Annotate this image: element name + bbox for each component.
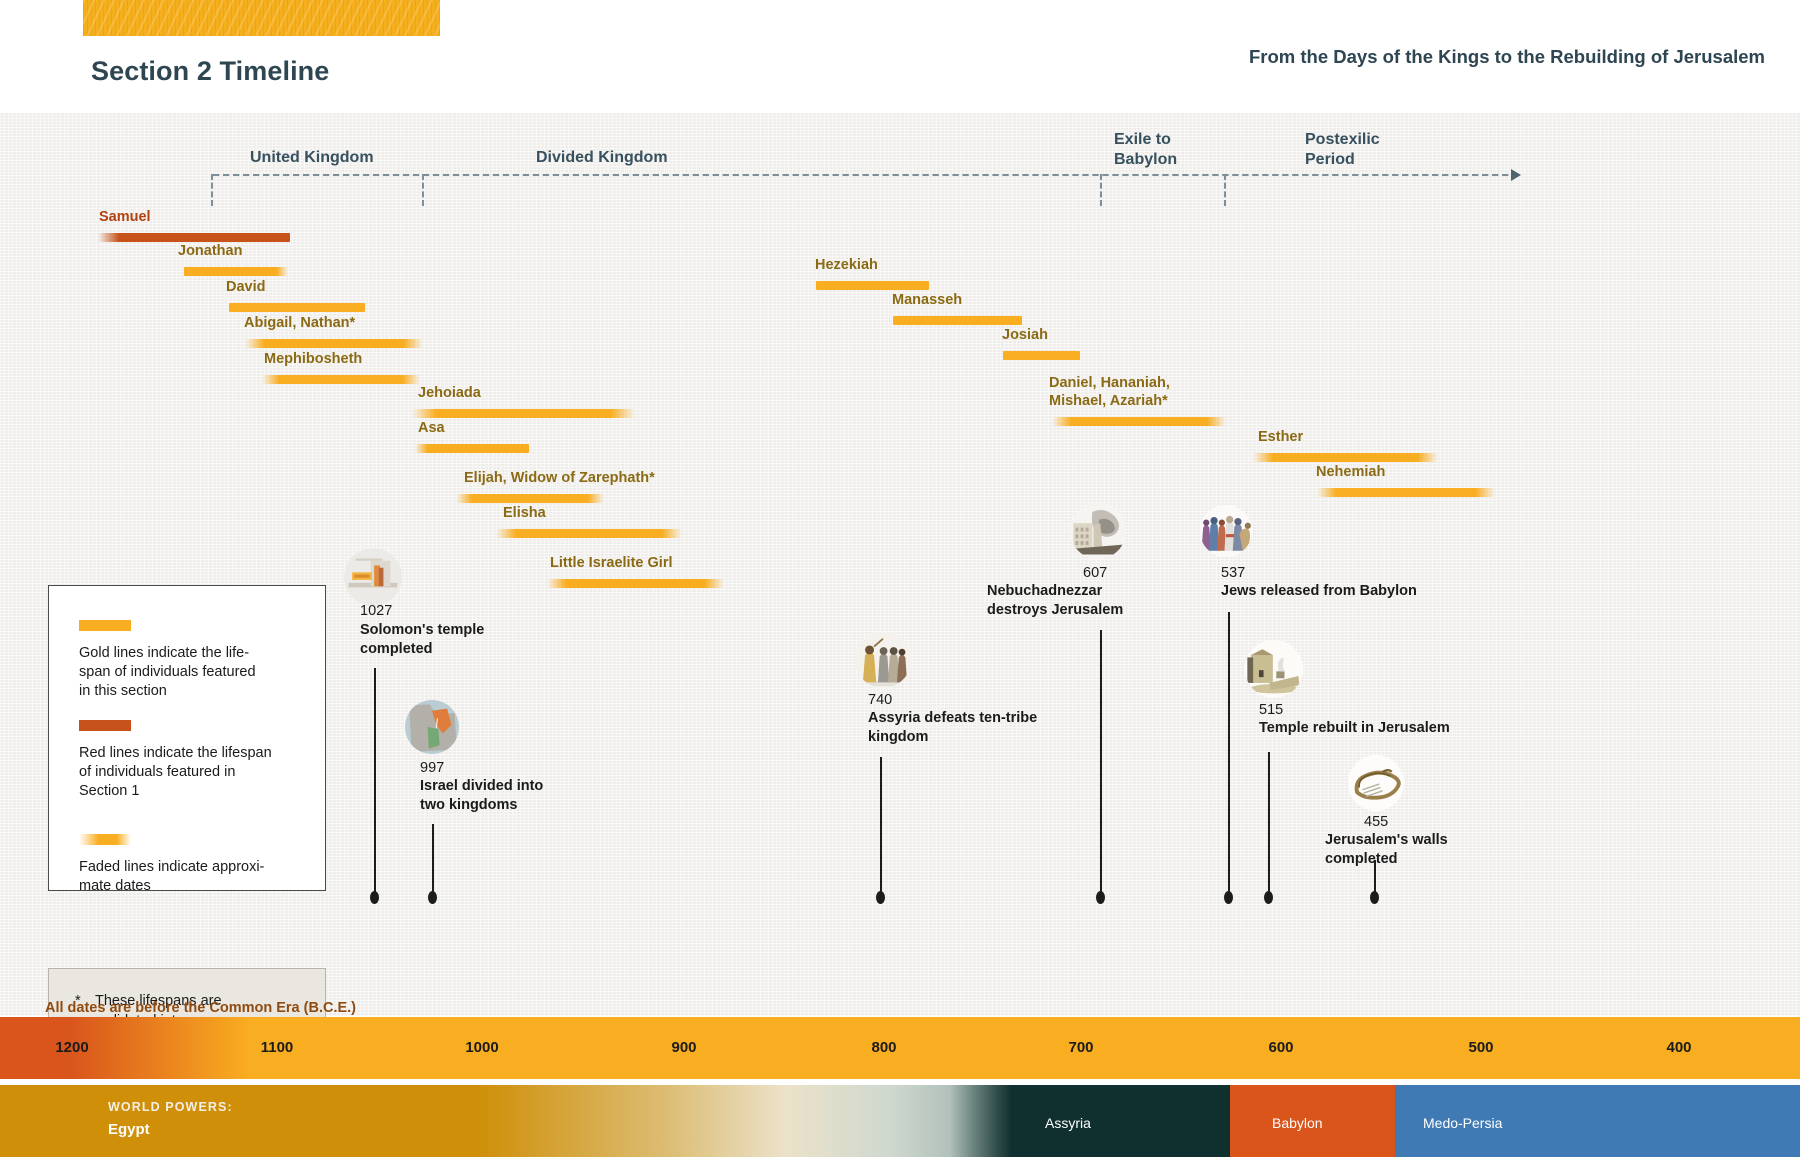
axis-tick-600: 600 <box>1268 1039 1293 1056</box>
gold-banner-swatch <box>83 0 440 36</box>
axis-tick-1200: 1200 <box>55 1039 88 1056</box>
world-power-label-egypt: Egypt <box>108 1121 150 1138</box>
world-powers-bar: AssyriaBabylonMedo-PersiaWORLD POWERS:Eg… <box>0 1085 1800 1157</box>
page-title: Section 2 Timeline <box>91 56 329 87</box>
timeline-canvas: United KingdomDivided KingdomExile to Ba… <box>0 113 1800 1016</box>
axis-tick-1000: 1000 <box>465 1039 498 1056</box>
world-powers-heading: WORLD POWERS: <box>108 1100 233 1114</box>
header-subtitle: From the Days of the Kings to the Rebuil… <box>1165 45 1765 70</box>
world-power-segment-egypt <box>0 1085 1060 1157</box>
city-walls-icon <box>1348 755 1404 811</box>
world-power-label-assyria: Assyria <box>1045 1115 1091 1131</box>
event-marker-455: 455Jerusalem's walls completed <box>0 113 1800 1016</box>
world-power-label-babylon: Babylon <box>1272 1115 1323 1131</box>
axis-tick-400: 400 <box>1666 1039 1691 1056</box>
axis-tick-900: 900 <box>671 1039 696 1056</box>
world-power-label-medopersia: Medo-Persia <box>1423 1115 1502 1131</box>
timeline-infographic: Section 2 Timeline From the Days of the … <box>0 0 1800 1157</box>
event-year: 455 <box>1364 814 1388 830</box>
event-caption: Jerusalem's walls completed <box>1325 831 1448 869</box>
date-axis: 120011001000900800700600500400 <box>0 1017 1800 1079</box>
event-axis-dot <box>1370 891 1379 904</box>
bce-note: All dates are before the Common Era (B.C… <box>45 1000 356 1016</box>
axis-tick-700: 700 <box>1068 1039 1093 1056</box>
axis-tick-800: 800 <box>871 1039 896 1056</box>
axis-tick-500: 500 <box>1468 1039 1493 1056</box>
axis-tick-1100: 1100 <box>261 1039 294 1056</box>
header: Section 2 Timeline From the Days of the … <box>0 0 1800 113</box>
